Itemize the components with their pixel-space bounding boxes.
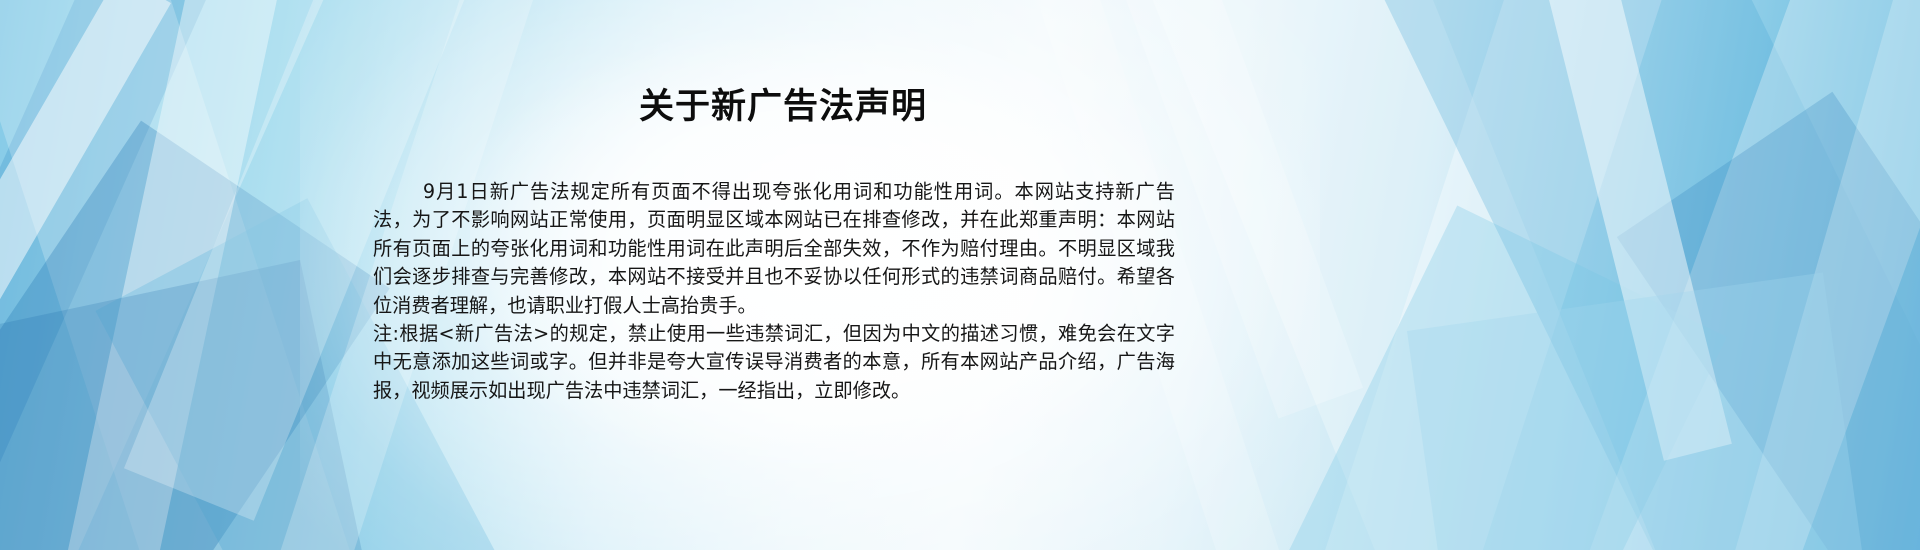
statement-content: 关于新广告法声明 9月1日新广告法规定所有页面不得出现夸张化用词和功能性用词。本… <box>0 0 1920 550</box>
statement-paragraph-1: 9月1日新广告法规定所有页面不得出现夸张化用词和功能性用词。本网站支持新广告法，… <box>373 178 1175 320</box>
page-title: 关于新广告法声明 <box>0 86 1566 128</box>
statement-body: 9月1日新广告法规定所有页面不得出现夸张化用词和功能性用词。本网站支持新广告法，… <box>373 178 1175 405</box>
advertising-law-statement-banner: 关于新广告法声明 9月1日新广告法规定所有页面不得出现夸张化用词和功能性用词。本… <box>0 0 1920 550</box>
statement-paragraph-2: 注:根据<新广告法>的规定，禁止使用一些违禁词汇，但因为中文的描述习惯，难免会在… <box>373 320 1175 405</box>
